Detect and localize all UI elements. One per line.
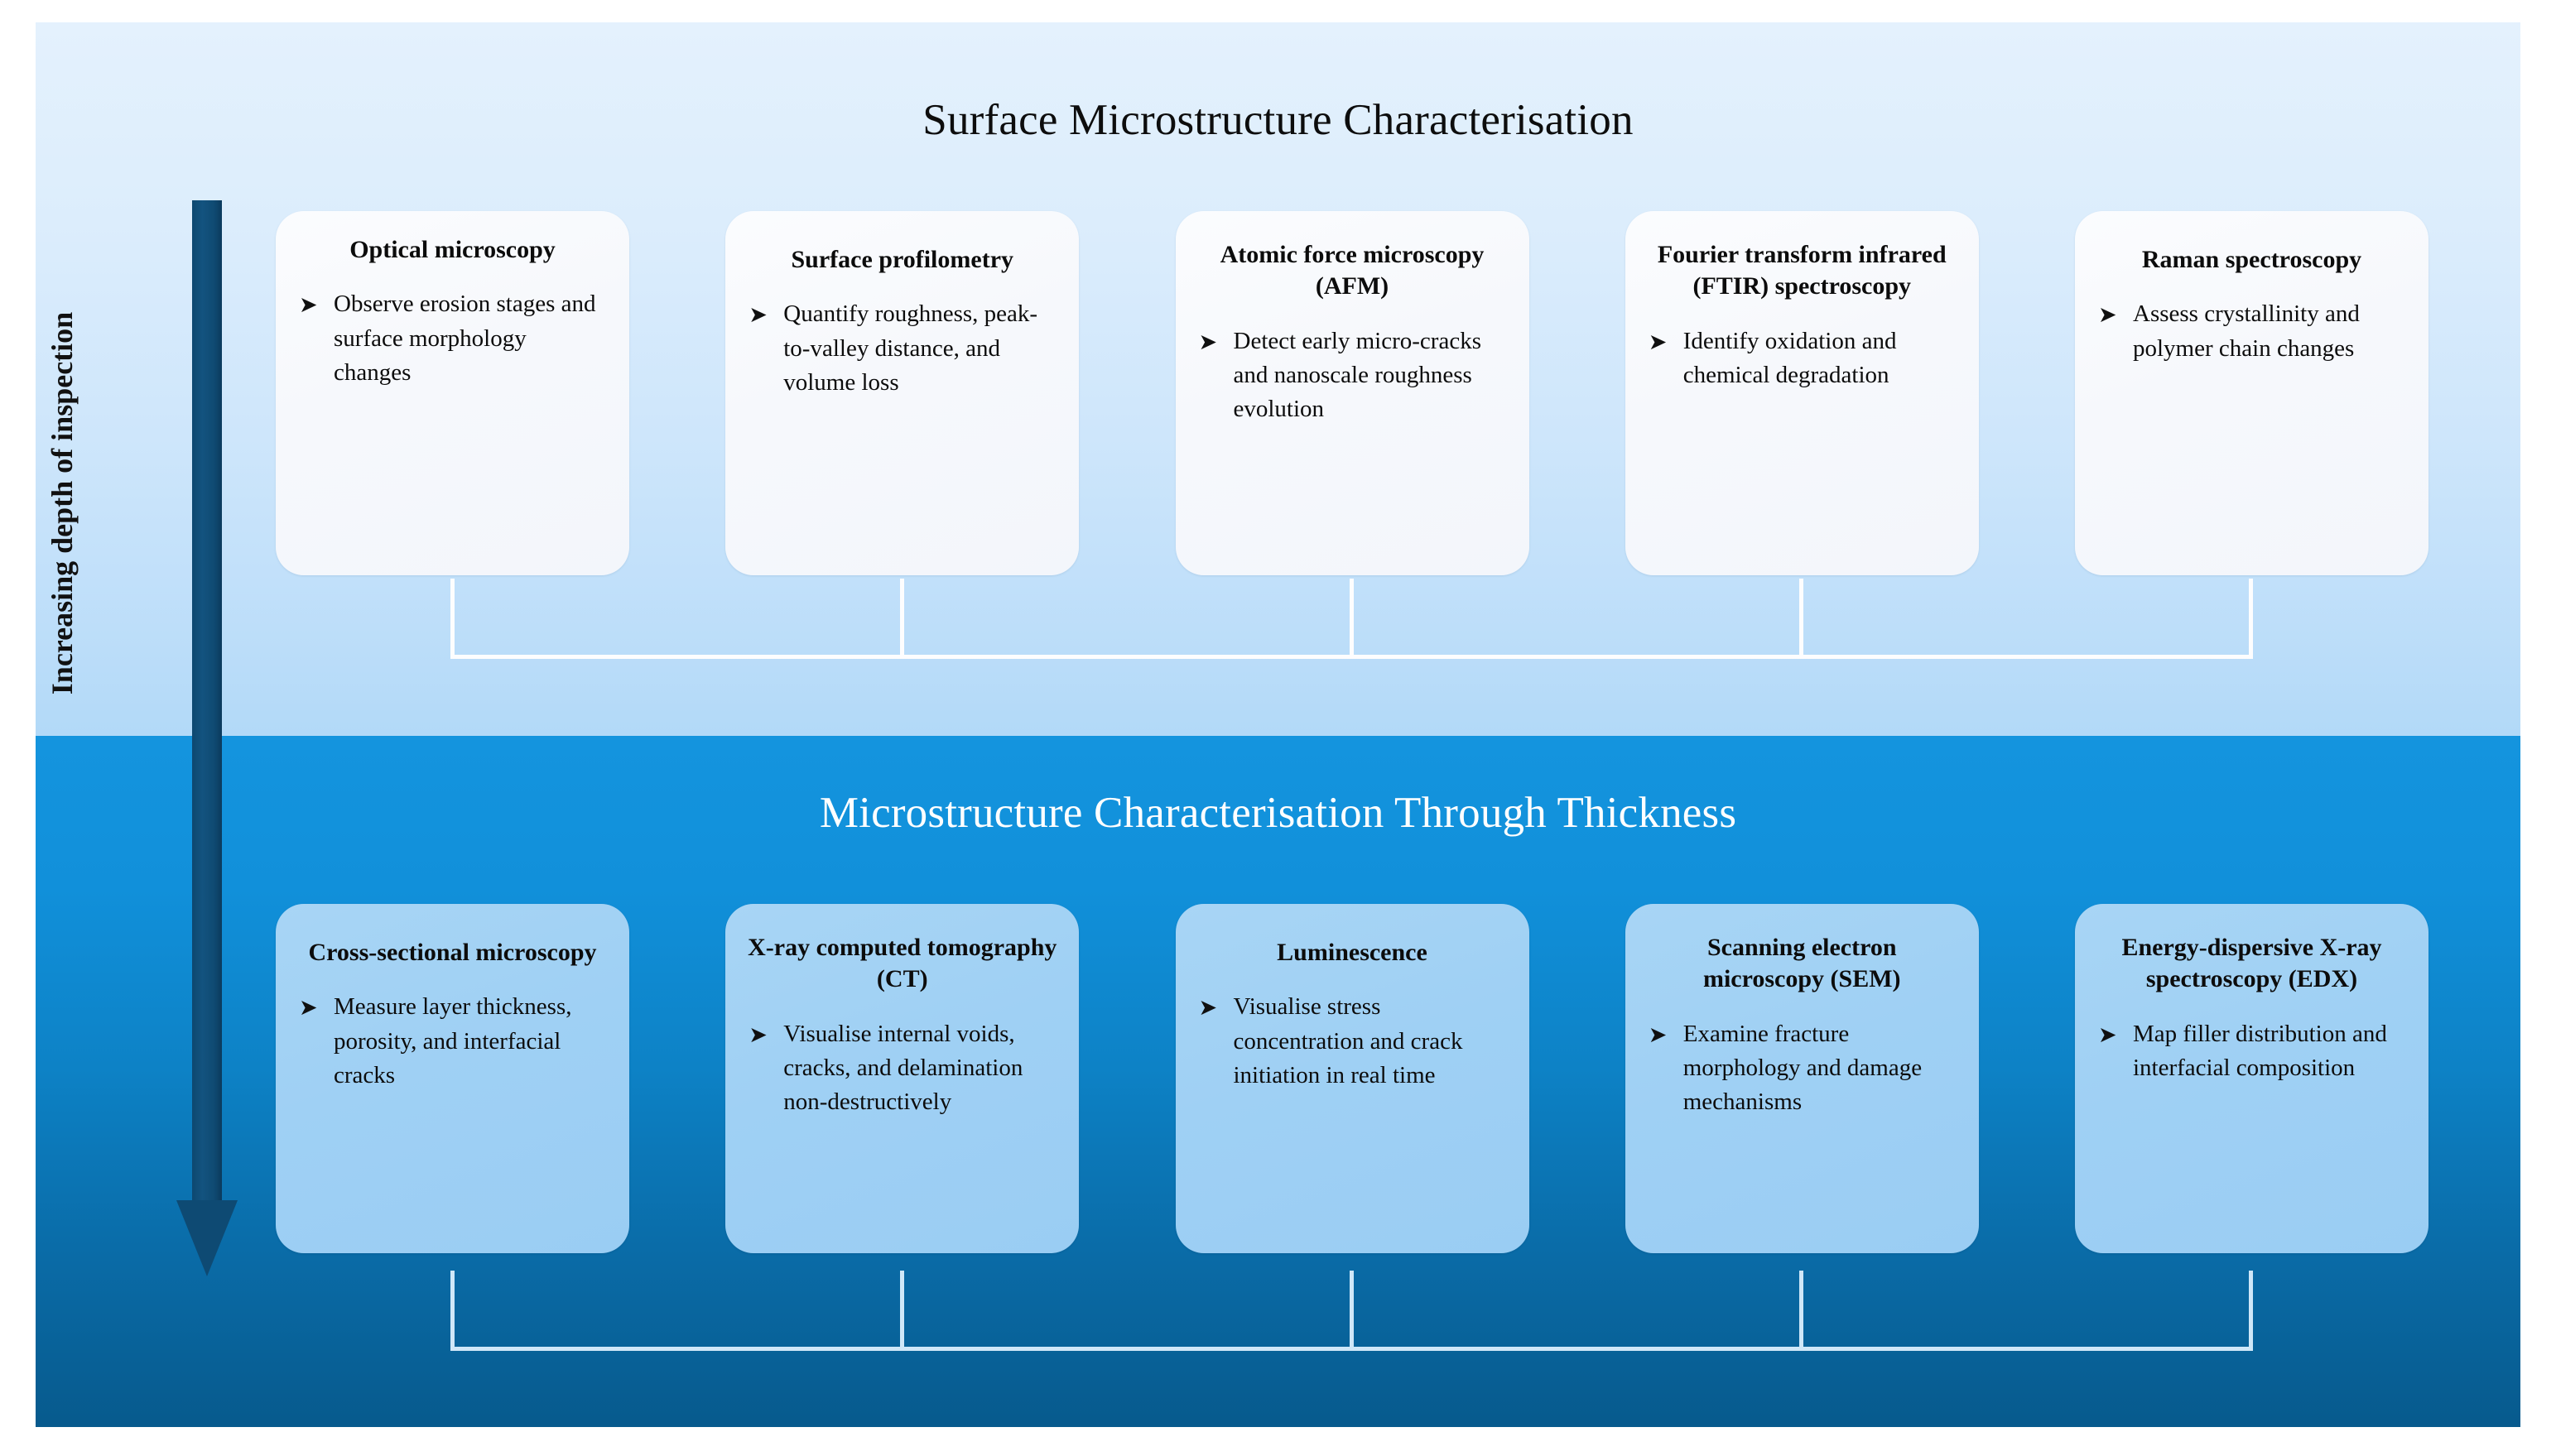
diagram-canvas: Surface Microstructure Characterisation … [36,22,2520,1427]
card-title: Fourier transform infrared (FTIR) spectr… [1647,239,1957,303]
connector-drop-2 [900,579,904,658]
chevron-bullet-icon: ➤ [1649,326,1668,358]
card-bullet-item: ➤ Assess crystallinity and polymer chain… [2096,297,2407,365]
card-bullet-list: ➤ Identify oxidation and chemical degrad… [1647,324,1957,392]
card-bullet-text: Quantify roughness, peak-to-valley dista… [783,300,1037,395]
card-bullet-list: ➤ Observe erosion stages and surface mor… [297,287,608,390]
card-bullet-text: Measure layer thickness, porosity, and i… [334,993,571,1088]
card-bullet-text: Examine fracture morphology and damage m… [1683,1021,1922,1115]
card-bullet-item: ➤ Measure layer thickness, porosity, and… [297,990,608,1093]
card-raman-spectroscopy[interactable]: Raman spectroscopy ➤ Assess crystallinit… [2075,211,2428,575]
card-title: Raman spectroscopy [2096,244,2407,276]
card-title: Optical microscopy [297,234,608,266]
chevron-bullet-icon: ➤ [299,289,318,320]
surface-connector-bus [276,579,2428,670]
increasing-depth-arrow-icon [183,200,231,1276]
connector-rail [450,655,2253,659]
connector-drop-3 [1350,579,1354,658]
card-title: Surface profilometry [747,244,1057,276]
connector-drop-1 [450,579,455,658]
arrow-head [176,1200,238,1276]
chevron-bullet-icon: ➤ [749,299,768,330]
card-bullet-item: ➤ Visualise stress concentration and cra… [1197,990,1508,1093]
arrow-shaft [192,200,222,1206]
surface-technique-card-row: Optical microscopy ➤ Observe erosion sta… [276,211,2428,575]
thickness-technique-card-row: Cross-sectional microscopy ➤ Measure lay… [276,904,2428,1253]
card-bullet-text: Map filler distribution and interfacial … [2133,1021,2387,1081]
chevron-bullet-icon: ➤ [1199,326,1218,358]
card-surface-profilometry[interactable]: Surface profilometry ➤ Quantify roughnes… [725,211,1079,575]
connector-drop-1 [450,1271,455,1350]
card-atomic-force-microscopy[interactable]: Atomic force microscopy (AFM) ➤ Detect e… [1176,211,1529,575]
card-scanning-electron-microscopy[interactable]: Scanning electron microscopy (SEM) ➤ Exa… [1625,904,1979,1253]
card-bullet-list: ➤ Map filler distribution and interfacia… [2096,1017,2407,1085]
card-title: Cross-sectional microscopy [297,937,608,968]
connector-drop-3 [1350,1271,1354,1350]
thickness-connector-bus [276,1271,2428,1362]
card-bullet-text: Visualise internal voids, cracks, and de… [783,1021,1023,1115]
depth-axis-label: Increasing depth of inspection [45,131,79,876]
card-energy-dispersive-xray-spectroscopy[interactable]: Energy-dispersive X-ray spectroscopy (ED… [2075,904,2428,1253]
card-optical-microscopy[interactable]: Optical microscopy ➤ Observe erosion sta… [276,211,629,575]
chevron-bullet-icon: ➤ [2098,1019,2117,1050]
card-ftir-spectroscopy[interactable]: Fourier transform infrared (FTIR) spectr… [1625,211,1979,575]
connector-drop-2 [900,1271,904,1350]
card-bullet-list: ➤ Measure layer thickness, porosity, and… [297,990,608,1093]
card-bullet-item: ➤ Map filler distribution and interfacia… [2096,1017,2407,1085]
card-bullet-list: ➤ Assess crystallinity and polymer chain… [2096,297,2407,365]
chevron-bullet-icon: ➤ [1199,992,1218,1023]
card-cross-sectional-microscopy[interactable]: Cross-sectional microscopy ➤ Measure lay… [276,904,629,1253]
card-bullet-text: Observe erosion stages and surface morph… [334,291,596,385]
card-bullet-list: ➤ Quantify roughness, peak-to-valley dis… [747,297,1057,400]
connector-drop-5 [2249,1271,2253,1350]
connector-rail [450,1347,2253,1351]
card-title: Atomic force microscopy (AFM) [1197,239,1508,303]
card-luminescence[interactable]: Luminescence ➤ Visualise stress concentr… [1176,904,1529,1253]
card-bullet-list: ➤ Examine fracture morphology and damage… [1647,1017,1957,1120]
card-xray-computed-tomography[interactable]: X-ray computed tomography (CT) ➤ Visuali… [725,904,1079,1253]
card-title: X-ray computed tomography (CT) [747,932,1057,996]
chevron-bullet-icon: ➤ [299,992,318,1023]
card-bullet-text: Identify oxidation and chemical degradat… [1683,328,1897,388]
card-bullet-list: ➤ Visualise internal voids, cracks, and … [747,1017,1057,1120]
card-bullet-item: ➤ Identify oxidation and chemical degrad… [1647,324,1957,392]
card-title: Luminescence [1197,937,1508,968]
card-bullet-text: Visualise stress concentration and crack… [1234,993,1463,1088]
card-bullet-item: ➤ Observe erosion stages and surface mor… [297,287,608,390]
card-title: Energy-dispersive X-ray spectroscopy (ED… [2096,932,2407,996]
card-bullet-item: ➤ Detect early micro-cracks and nanoscal… [1197,324,1508,427]
chevron-bullet-icon: ➤ [1649,1019,1668,1050]
surface-section-title: Surface Microstructure Characterisation [36,95,2520,145]
connector-drop-4 [1799,579,1803,658]
card-bullet-item: ➤ Examine fracture morphology and damage… [1647,1017,1957,1120]
connector-drop-5 [2249,579,2253,658]
card-bullet-list: ➤ Visualise stress concentration and cra… [1197,990,1508,1093]
connector-drop-4 [1799,1271,1803,1350]
chevron-bullet-icon: ➤ [2098,299,2117,330]
card-title: Scanning electron microscopy (SEM) [1647,932,1957,996]
chevron-bullet-icon: ➤ [749,1019,768,1050]
card-bullet-list: ➤ Detect early micro-cracks and nanoscal… [1197,324,1508,427]
card-bullet-text: Assess crystallinity and polymer chain c… [2133,300,2360,361]
card-bullet-item: ➤ Quantify roughness, peak-to-valley dis… [747,297,1057,400]
card-bullet-item: ➤ Visualise internal voids, cracks, and … [747,1017,1057,1120]
card-bullet-text: Detect early micro-cracks and nanoscale … [1234,328,1482,422]
thickness-section-title: Microstructure Characterisation Through … [36,788,2520,838]
